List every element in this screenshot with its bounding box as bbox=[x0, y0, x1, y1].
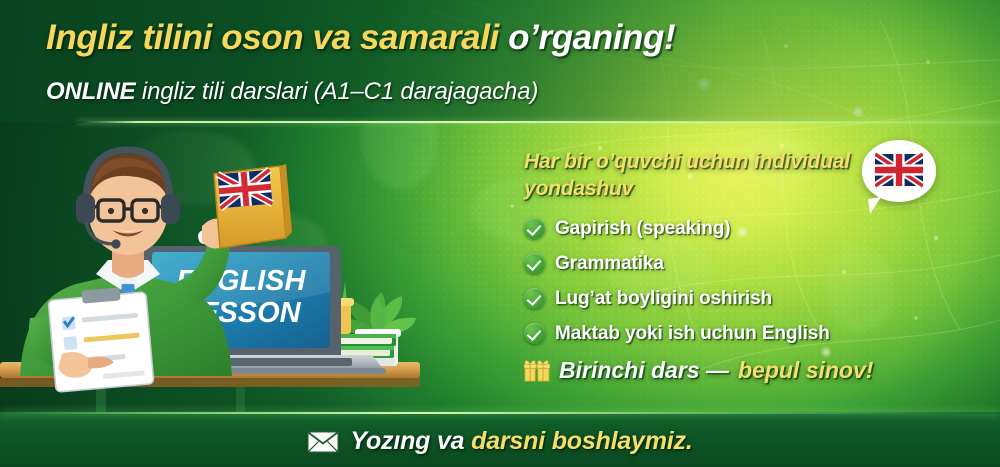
features-list: Gapirish (speaking) Grammatika Lug’at bo… bbox=[524, 217, 956, 346]
list-item: Gapirish (speaking) bbox=[524, 217, 956, 241]
check-circle-icon bbox=[524, 288, 545, 309]
list-item: Lug’at boyligini oshirish bbox=[524, 287, 956, 311]
page-title: Ingliz tilini oson va samarali o’rganing… bbox=[46, 18, 675, 58]
features-panel: Har bir o’quvchi uchun individual yondas… bbox=[524, 148, 956, 384]
footer-content: Yozıng va darsni boshlaymiz. bbox=[0, 412, 1000, 467]
list-item: Maktab yoki ish uchun English bbox=[524, 322, 956, 346]
clipboard bbox=[48, 287, 154, 392]
check-circle-icon bbox=[524, 218, 545, 239]
feature-label: Maktab yoki ish uchun English bbox=[555, 323, 830, 345]
subtitle-rest: ingliz tili darslari (A1–C1 darajagacha) bbox=[135, 78, 538, 105]
header-divider bbox=[78, 121, 1000, 123]
check-circle-icon bbox=[524, 323, 545, 344]
feature-label: Grammatika bbox=[555, 253, 664, 275]
subtitle-bold: ONLINE bbox=[46, 78, 135, 105]
banner-header: Ingliz tilini oson va samarali o’rganing… bbox=[0, 0, 1000, 122]
page-subtitle: ONLINE ingliz tili darslari (A1–C1 daraj… bbox=[46, 78, 538, 106]
call-to-action-bar: Yozıng va darsni boshlaymiz. bbox=[0, 412, 1000, 467]
offer-line: Birinchi dars — bepul sinov! bbox=[524, 357, 956, 384]
list-item: Grammatika bbox=[524, 252, 956, 276]
gift-icon bbox=[524, 358, 550, 382]
cta-text: Yozıng va darsni boshlaymiz. bbox=[350, 427, 692, 456]
feature-label: Gapirish (speaking) bbox=[555, 218, 730, 240]
headline-rest: o’rganing! bbox=[508, 18, 675, 57]
teacher-illustration: ENGLISH LESSON bbox=[0, 118, 500, 418]
cta-text-white: Yozıng va bbox=[350, 427, 471, 455]
offer-text-white: Birinchi dars — bbox=[559, 357, 729, 384]
envelope-icon bbox=[307, 431, 339, 453]
cta-text-yellow: darsni boshlaymiz. bbox=[471, 427, 692, 455]
panel-title: Har bir o’quvchi uchun individual yondas… bbox=[524, 148, 956, 203]
offer-text-yellow: bepul sinov! bbox=[738, 357, 873, 384]
feature-label: Lug’at boyligini oshirish bbox=[555, 288, 772, 310]
promo-banner: ENGLISH LESSON bbox=[0, 0, 1000, 467]
check-circle-icon bbox=[524, 253, 545, 274]
headline-highlight: Ingliz tilini oson va samarali bbox=[46, 18, 508, 57]
uk-flag-book bbox=[214, 164, 292, 248]
